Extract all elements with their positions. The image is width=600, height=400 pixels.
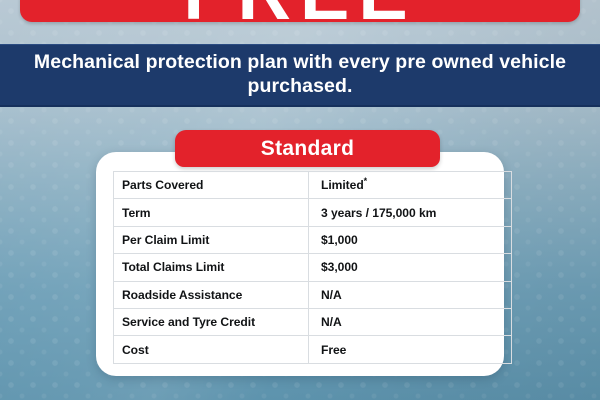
subtitle-text: Mechanical protection plan with every pr… xyxy=(0,51,600,99)
plan-spec-table-body: Parts CoveredLimited*Term3 years / 175,0… xyxy=(114,172,512,364)
free-headline-banner: FREE xyxy=(20,0,580,22)
spec-value-cell: $3,000 xyxy=(309,254,512,281)
plan-name-badge: Standard xyxy=(175,130,440,167)
spec-value-cell: N/A xyxy=(309,281,512,308)
spec-value-cell: 3 years / 175,000 km xyxy=(309,199,512,226)
spec-value-cell: $1,000 xyxy=(309,226,512,253)
spec-value-cell: Free xyxy=(309,336,512,363)
spec-label-cell: Per Claim Limit xyxy=(114,226,309,253)
promo-poster: FREE Mechanical protection plan with eve… xyxy=(0,0,600,400)
table-row: Total Claims Limit$3,000 xyxy=(114,254,512,281)
table-row: Per Claim Limit$1,000 xyxy=(114,226,512,253)
plan-spec-table: Parts CoveredLimited*Term3 years / 175,0… xyxy=(113,171,512,364)
spec-label-cell: Parts Covered xyxy=(114,172,309,199)
spec-label-cell: Roadside Assistance xyxy=(114,281,309,308)
table-row: Term3 years / 175,000 km xyxy=(114,199,512,226)
table-row: Parts CoveredLimited* xyxy=(114,172,512,199)
free-headline-text: FREE xyxy=(183,0,416,22)
table-row: Roadside AssistanceN/A xyxy=(114,281,512,308)
spec-value-cell: Limited* xyxy=(309,172,512,199)
spec-label-cell: Term xyxy=(114,199,309,226)
table-row: CostFree xyxy=(114,336,512,363)
plan-name-label: Standard xyxy=(261,137,354,161)
subtitle-band: Mechanical protection plan with every pr… xyxy=(0,44,600,107)
footnote-asterisk: * xyxy=(364,176,367,186)
spec-label-cell: Service and Tyre Credit xyxy=(114,308,309,335)
table-row: Service and Tyre CreditN/A xyxy=(114,308,512,335)
spec-label-cell: Total Claims Limit xyxy=(114,254,309,281)
spec-label-cell: Cost xyxy=(114,336,309,363)
spec-value-cell: N/A xyxy=(309,308,512,335)
